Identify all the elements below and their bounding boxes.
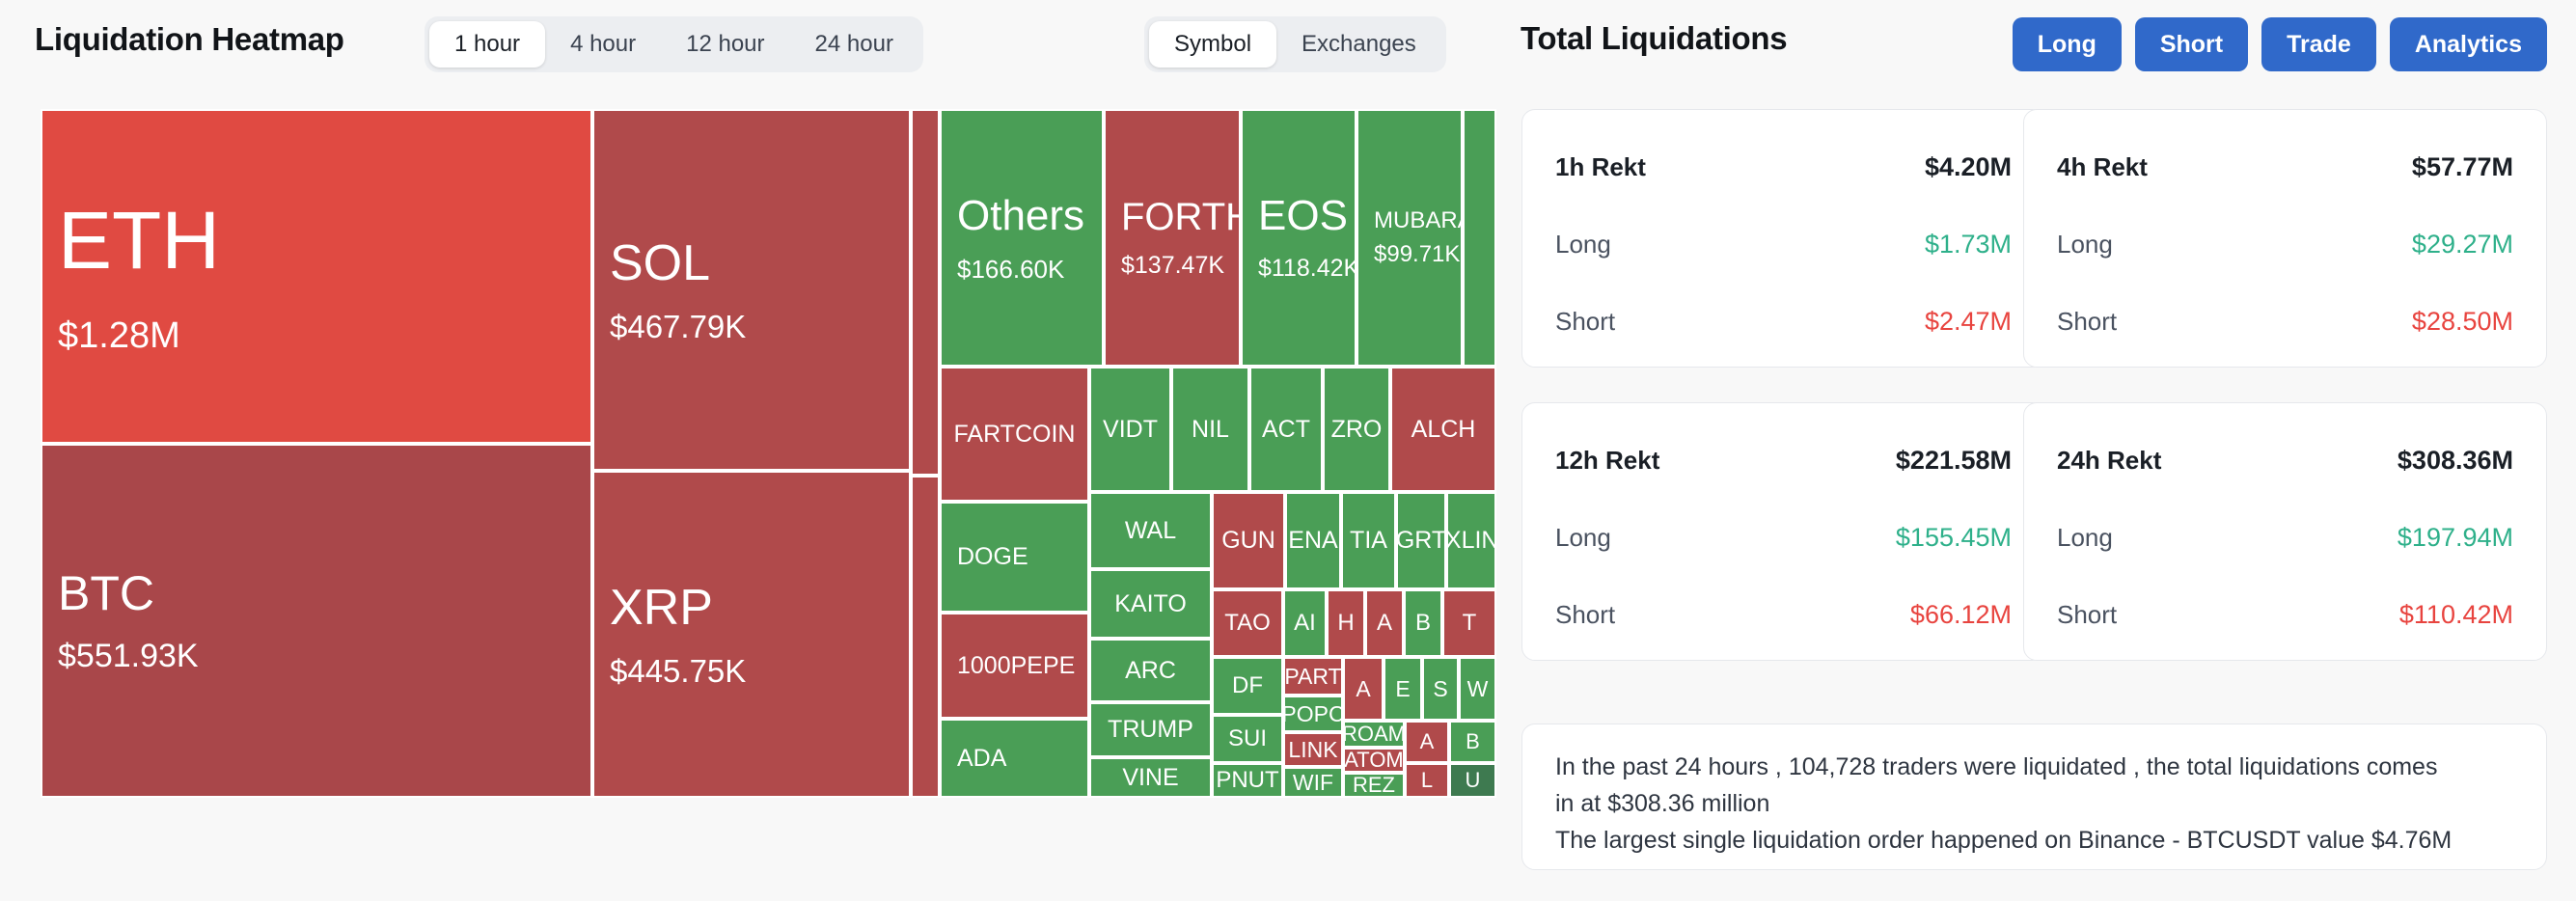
treemap-tile-nil[interactable]: NIL xyxy=(1171,367,1249,492)
treemap-tile-btc[interactable]: BTC$551.93K xyxy=(41,444,592,798)
treemap-tile-df[interactable]: DF xyxy=(1212,657,1283,715)
treemap-tile-value: $1.28M xyxy=(58,317,590,354)
treemap-tile-alch[interactable]: ALCH xyxy=(1390,367,1496,492)
stat-row: 24h Rekt$308.36M xyxy=(2057,446,2513,476)
treemap-tile-symbol: WIF xyxy=(1293,772,1333,794)
treemap-tile-vine[interactable]: VINE xyxy=(1089,757,1212,798)
short-label: Short xyxy=(2057,600,2117,630)
treemap-tile-1000pepe[interactable]: 1000PEPE xyxy=(940,613,1089,719)
treemap-tile[interactable] xyxy=(1463,109,1496,367)
treemap-tile-pnut[interactable]: PNUT xyxy=(1212,763,1283,798)
treemap-tile-symbol: TRUMP xyxy=(1108,718,1193,742)
treemap-tile-vidt[interactable]: VIDT xyxy=(1089,367,1171,492)
treemap-tile-symbol: ATOM xyxy=(1344,750,1404,771)
treemap-tile-w[interactable]: W xyxy=(1459,657,1496,721)
treemap-tile-symbol: FORTH xyxy=(1121,198,1239,236)
tab-symbol[interactable]: Symbol xyxy=(1149,21,1276,68)
treemap-tile-symbol: SUI xyxy=(1228,727,1267,751)
treemap-tile-symbol: GRT xyxy=(1396,529,1446,553)
treemap-tile[interactable] xyxy=(911,109,940,476)
treemap-tile-t[interactable]: T xyxy=(1442,589,1496,657)
treemap-tile-others[interactable]: Others$166.60K xyxy=(940,109,1104,367)
treemap-tile-tao[interactable]: TAO xyxy=(1212,589,1283,657)
treemap-tile-s[interactable]: S xyxy=(1422,657,1459,721)
treemap-tile-symbol: BTC xyxy=(58,569,590,617)
treemap-tile-symbol: NIL xyxy=(1192,418,1229,442)
long-value: $155.45M xyxy=(1896,523,2012,553)
treemap-tile-trump[interactable]: TRUMP xyxy=(1089,702,1212,757)
treemap-tile-b[interactable]: B xyxy=(1404,589,1442,657)
analytics-button[interactable]: Analytics xyxy=(2390,17,2547,71)
time-range-tabs[interactable]: 1 hour4 hour12 hour24 hour xyxy=(425,16,923,72)
stat-card-24h: 24h Rekt$308.36MLong$197.94MShort$110.42… xyxy=(2023,402,2547,661)
treemap-tile-symbol: ENA xyxy=(1288,529,1337,553)
treemap-tile-ada[interactable]: ADA xyxy=(940,719,1089,798)
treemap-tile-symbol: S xyxy=(1433,678,1447,700)
treemap-tile-symbol: T xyxy=(1463,612,1477,635)
treemap-tile-doge[interactable]: DOGE xyxy=(940,502,1089,613)
summary-card: In the past 24 hours , 104,728 traders w… xyxy=(1521,724,2547,870)
short-button[interactable]: Short xyxy=(2135,17,2248,71)
treemap-tile-symbol: ACT xyxy=(1262,418,1310,442)
treemap-tile-wal[interactable]: WAL xyxy=(1089,492,1212,569)
treemap-tile-symbol: Others xyxy=(957,195,1102,237)
stat-row: Long$197.94M xyxy=(2057,523,2513,553)
treemap-tile-symbol: REZ xyxy=(1353,775,1395,796)
treemap-tile-symbol: ADA xyxy=(957,747,1087,771)
tab-4-hour[interactable]: 4 hour xyxy=(545,21,661,68)
treemap-tile-symbol: L xyxy=(1421,770,1433,791)
treemap-tile-symbol: LINK xyxy=(1288,739,1337,761)
long-label: Long xyxy=(1555,523,1611,553)
treemap-tile-ena[interactable]: ENA xyxy=(1285,492,1341,589)
treemap-tile-symbol: A xyxy=(1420,731,1435,752)
stat-row: Short$66.12M xyxy=(1555,600,2012,630)
treemap-tile-forth[interactable]: FORTH$137.47K xyxy=(1104,109,1241,367)
treemap-tile-symbol: DF xyxy=(1232,674,1263,697)
treemap-tile-symbol: PART xyxy=(1284,666,1341,688)
treemap-tile-symbol: XRP xyxy=(610,583,909,633)
stat-card-title: 4h Rekt xyxy=(2057,152,2148,182)
treemap-tile-value: $99.71K xyxy=(1374,243,1461,266)
treemap-tile-atom[interactable]: ATOM xyxy=(1343,748,1405,773)
stat-card-total: $4.20M xyxy=(1925,152,2012,182)
tab-1-hour[interactable]: 1 hour xyxy=(429,21,545,68)
short-value: $110.42M xyxy=(2399,600,2513,630)
treemap-tile-a[interactable]: A xyxy=(1365,589,1404,657)
long-label: Long xyxy=(2057,230,2113,259)
treemap-tile-symbol: FARTCOIN xyxy=(954,423,1076,447)
long-label: Long xyxy=(2057,523,2113,553)
treemap-tile-symbol: B xyxy=(1415,612,1431,635)
treemap-tile-uxlink[interactable]: UXLINK xyxy=(1446,492,1496,589)
summary-line-3: The largest single liquidation order hap… xyxy=(1555,829,2521,853)
long-value: $29.27M xyxy=(2412,230,2513,259)
treemap-tile-value: $137.47K xyxy=(1121,254,1239,278)
treemap-tile-fartcoin[interactable]: FARTCOIN xyxy=(940,367,1089,502)
treemap-tile-symbol: H xyxy=(1337,612,1354,635)
long-label: Long xyxy=(1555,230,1611,259)
treemap-tile-eos[interactable]: EOS$118.42K xyxy=(1241,109,1357,367)
short-value: $66.12M xyxy=(1910,600,2012,630)
stat-row: 12h Rekt$221.58M xyxy=(1555,446,2012,476)
treemap-tile-e[interactable]: E xyxy=(1384,657,1422,721)
treemap-tile-kaito[interactable]: KAITO xyxy=(1089,569,1212,639)
treemap-tile-symbol: 1000PEPE xyxy=(957,654,1087,678)
short-label: Short xyxy=(1555,600,1615,630)
liquidation-treemap[interactable]: ETH$1.28MBTC$551.93KSOL$467.79KXRP$445.7… xyxy=(41,109,1496,798)
treemap-tile-wif[interactable]: WIF xyxy=(1283,767,1343,798)
treemap-tile-symbol: ZRO xyxy=(1331,418,1383,442)
stat-row: Short$28.50M xyxy=(2057,307,2513,337)
treemap-tile-eth[interactable]: ETH$1.28M xyxy=(41,109,592,444)
treemap-tile-symbol: A xyxy=(1356,678,1370,700)
treemap-tile-grt[interactable]: GRT xyxy=(1396,492,1446,589)
trade-button[interactable]: Trade xyxy=(2261,17,2376,71)
treemap-tile-symbol: POPC xyxy=(1283,703,1343,725)
treemap-tile-symbol: TIA xyxy=(1350,529,1387,553)
treemap-tile-value: $445.75K xyxy=(610,655,909,687)
long-button[interactable]: Long xyxy=(2013,17,2122,71)
tab-exchanges[interactable]: Exchanges xyxy=(1276,21,1441,68)
stat-card-12h: 12h Rekt$221.58MLong$155.45MShort$66.12M xyxy=(1521,402,2045,661)
treemap-tile-symbol: B xyxy=(1466,731,1480,752)
treemap-tile-symbol: VIDT xyxy=(1103,418,1158,442)
treemap-tile-sui[interactable]: SUI xyxy=(1212,715,1283,763)
treemap-tile-symbol: U xyxy=(1466,770,1481,791)
treemap-tile-symbol: MUBARAK xyxy=(1374,209,1461,232)
stat-card-1h: 1h Rekt$4.20MLong$1.73MShort$2.47M xyxy=(1521,109,2045,368)
treemap-tile-tia[interactable]: TIA xyxy=(1341,492,1396,589)
treemap-tile-value: $118.42K xyxy=(1258,257,1355,281)
treemap-tile-value: $166.60K xyxy=(957,257,1102,282)
long-value: $197.94M xyxy=(2398,523,2513,553)
stat-card-total: $221.58M xyxy=(1896,446,2012,476)
treemap-tile-value: $467.79K xyxy=(610,311,909,342)
treemap-tile-symbol: WAL xyxy=(1125,519,1176,543)
treemap-tile-a[interactable]: A xyxy=(1405,721,1449,763)
treemap-tile-symbol: W xyxy=(1467,678,1489,700)
stat-row: Long$29.27M xyxy=(2057,230,2513,259)
treemap-tile-popc[interactable]: POPC xyxy=(1283,696,1343,732)
stat-row: Long$155.45M xyxy=(1555,523,2012,553)
treemap-tile-symbol: VINE xyxy=(1122,766,1178,790)
action-button-group: LongShortTradeAnalytics xyxy=(2013,17,2547,71)
treemap-tile-xrp[interactable]: XRP$445.75K xyxy=(592,471,911,798)
tab-12-hour[interactable]: 12 hour xyxy=(661,21,789,68)
treemap-tile-symbol: PNUT xyxy=(1216,769,1278,792)
stat-card-title: 1h Rekt xyxy=(1555,152,1646,182)
treemap-tile-symbol: A xyxy=(1377,612,1392,635)
short-value: $2.47M xyxy=(1925,307,2012,337)
short-label: Short xyxy=(2057,307,2117,337)
treemap-tile-symbol: EOS xyxy=(1258,195,1355,237)
treemap-tile-a[interactable]: A xyxy=(1343,657,1384,721)
stat-card-total: $57.77M xyxy=(2412,152,2513,182)
stat-row: 1h Rekt$4.20M xyxy=(1555,152,2012,182)
stat-card-title: 24h Rekt xyxy=(2057,446,2161,476)
treemap-tile-zro[interactable]: ZRO xyxy=(1323,367,1390,492)
treemap-tile-symbol: E xyxy=(1395,678,1410,700)
stat-row: 4h Rekt$57.77M xyxy=(2057,152,2513,182)
treemap-tile-roam[interactable]: ROAM xyxy=(1343,721,1405,748)
short-label: Short xyxy=(1555,307,1615,337)
treemap-tile-ai[interactable]: AI xyxy=(1283,589,1327,657)
treemap-tile-symbol: AI xyxy=(1294,612,1316,635)
stat-row: Short$2.47M xyxy=(1555,307,2012,337)
treemap-tile-symbol: DOGE xyxy=(957,545,1087,569)
treemap-tile-u[interactable]: U xyxy=(1449,763,1496,798)
treemap-tile-symbol: ALCH xyxy=(1411,418,1476,442)
treemap-tile[interactable] xyxy=(911,476,940,798)
page-title: Liquidation Heatmap xyxy=(35,21,344,58)
treemap-tile-symbol: TAO xyxy=(1224,612,1271,635)
treemap-tile-act[interactable]: ACT xyxy=(1249,367,1323,492)
stat-row: Long$1.73M xyxy=(1555,230,2012,259)
treemap-tile-symbol: ARC xyxy=(1125,659,1176,683)
treemap-tile-symbol: ROAM xyxy=(1343,724,1405,745)
treemap-tile-h[interactable]: H xyxy=(1327,589,1365,657)
treemap-tile-symbol: ETH xyxy=(58,200,590,281)
treemap-tile-rez[interactable]: REZ xyxy=(1343,773,1405,798)
treemap-tile-mubarak[interactable]: MUBARAK$99.71K xyxy=(1357,109,1463,367)
treemap-tile-value: $551.93K xyxy=(58,640,590,672)
short-value: $28.50M xyxy=(2412,307,2513,337)
treemap-tile-b[interactable]: B xyxy=(1449,721,1496,763)
stat-card-4h: 4h Rekt$57.77MLong$29.27MShort$28.50M xyxy=(2023,109,2547,368)
stat-card-title: 12h Rekt xyxy=(1555,446,1659,476)
treemap-tile-symbol: SOL xyxy=(610,238,909,288)
summary-line-1: In the past 24 hours , 104,728 traders w… xyxy=(1555,755,2521,779)
long-value: $1.73M xyxy=(1925,230,2012,259)
treemap-tile-l[interactable]: L xyxy=(1405,763,1449,798)
treemap-tile-symbol: KAITO xyxy=(1114,592,1187,616)
treemap-tile-gun[interactable]: GUN xyxy=(1212,492,1285,589)
total-liquidations-title: Total Liquidations xyxy=(1521,20,1787,57)
treemap-tile-arc[interactable]: ARC xyxy=(1089,639,1212,702)
treemap-tile-symbol: GUN xyxy=(1221,529,1275,553)
stat-row: Short$110.42M xyxy=(2057,600,2513,630)
treemap-tile-part[interactable]: PART xyxy=(1283,657,1343,696)
summary-line-2: in at $308.36 million xyxy=(1555,792,2521,816)
treemap-tile-sol[interactable]: SOL$467.79K xyxy=(592,109,911,471)
treemap-tile-symbol: UXLINK xyxy=(1446,529,1496,553)
tab-24-hour[interactable]: 24 hour xyxy=(790,21,918,68)
treemap-tile-link[interactable]: LINK xyxy=(1283,732,1343,767)
app-header: Liquidation Heatmap 1 hour4 hour12 hour2… xyxy=(0,0,2576,93)
stat-card-total: $308.36M xyxy=(2398,446,2513,476)
view-mode-tabs[interactable]: SymbolExchanges xyxy=(1144,16,1446,72)
